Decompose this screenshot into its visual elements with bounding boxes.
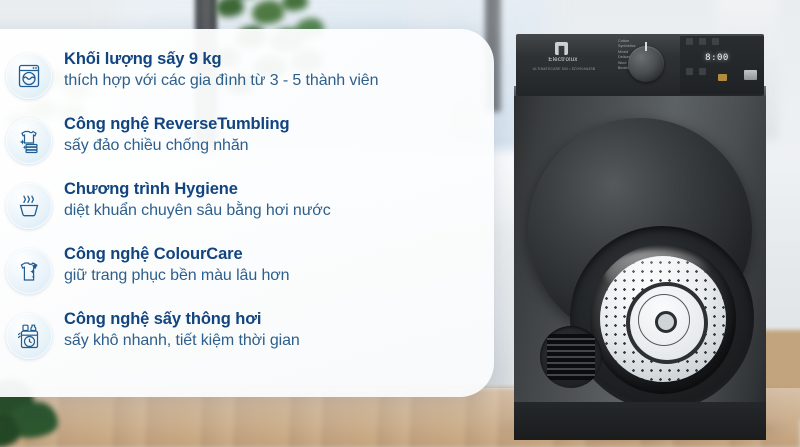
knob-indicator — [645, 42, 647, 51]
glass-reflection — [604, 250, 708, 294]
start-pause-button[interactable] — [744, 70, 757, 80]
feature-subtitle: sấy khô nhanh, tiết kiệm thời gian — [64, 330, 300, 352]
status-indicator-light — [718, 74, 727, 81]
feature-title: Chương trình Hygiene — [64, 179, 331, 200]
display-value: 8:00 — [705, 53, 729, 63]
feature-text: Công nghệ ColourCare giữ trang phục bền … — [64, 242, 289, 287]
dryer-vent-detergent-icon — [6, 313, 52, 359]
product-feature-image: Electrolux ULTIMATECARE 500 • EDV904N3SB… — [0, 0, 800, 447]
feature-subtitle: diệt khuẩn chuyên sâu bằng hơi nước — [64, 200, 331, 222]
control-button-row-bottom — [686, 68, 706, 75]
feature-row-capacity: Khối lượng sấy 9 kg thích hợp với các gi… — [6, 47, 476, 112]
control-button[interactable] — [699, 38, 706, 45]
control-button[interactable] — [686, 68, 693, 75]
feature-text: Công nghệ sấy thông hơi sấy khô nhanh, t… — [64, 307, 300, 352]
feature-row-hygiene: Chương trình Hygiene diệt khuẩn chuyên s… — [6, 177, 476, 242]
feature-text: Công nghệ ReverseTumbling sấy đảo chiều … — [64, 112, 289, 157]
vent-slats — [547, 334, 595, 380]
steam-basin-icon — [6, 183, 52, 229]
electrolux-dryer: Electrolux ULTIMATECARE 500 • EDV904N3SB… — [506, 30, 774, 440]
feature-text: Chương trình Hygiene diệt khuẩn chuyên s… — [64, 177, 331, 222]
control-button[interactable] — [686, 38, 693, 45]
feature-title: Công nghệ ReverseTumbling — [64, 114, 289, 135]
drum-hub — [655, 311, 677, 333]
brand-name: Electrolux — [536, 57, 590, 63]
feature-subtitle: sấy đảo chiều chống nhăn — [64, 135, 289, 157]
feature-title: Khối lượng sấy 9 kg — [64, 49, 378, 70]
feature-row-vented-drying: Công nghệ sấy thông hơi sấy khô nhanh, t… — [6, 307, 476, 372]
dryer-plinth — [514, 402, 766, 440]
dryer-machine-icon — [6, 53, 52, 99]
dryer-door[interactable] — [528, 118, 752, 342]
feature-text: Khối lượng sấy 9 kg thích hợp với các gi… — [64, 47, 378, 92]
control-button[interactable] — [712, 38, 719, 45]
feature-title: Công nghệ sấy thông hơi — [64, 309, 300, 330]
feature-card: Khối lượng sấy 9 kg thích hợp với các gi… — [0, 29, 494, 397]
digital-display: 8:00 — [702, 52, 732, 64]
program-selector-knob[interactable] — [628, 46, 664, 82]
tshirt-folded-clothes-icon — [6, 118, 52, 164]
model-line: ULTIMATECARE 500 • EDV904N3SB — [522, 67, 606, 71]
control-button[interactable] — [699, 68, 706, 75]
vent-grille — [540, 326, 602, 388]
control-button-row-top — [686, 38, 719, 45]
feature-title: Công nghệ ColourCare — [64, 244, 289, 265]
feature-list: Khối lượng sấy 9 kg thích hợp với các gi… — [6, 47, 476, 372]
feature-row-reverse-tumbling: Công nghệ ReverseTumbling sấy đảo chiều … — [6, 112, 476, 177]
tshirt-sparkle-icon — [6, 248, 52, 294]
feature-row-colourcare: Công nghệ ColourCare giữ trang phục bền … — [6, 242, 476, 307]
feature-subtitle: thích hợp với các gia đình từ 3 - 5 thàn… — [64, 70, 378, 92]
feature-subtitle: giữ trang phục bền màu lâu hơn — [64, 265, 289, 287]
door-glass — [590, 244, 736, 394]
